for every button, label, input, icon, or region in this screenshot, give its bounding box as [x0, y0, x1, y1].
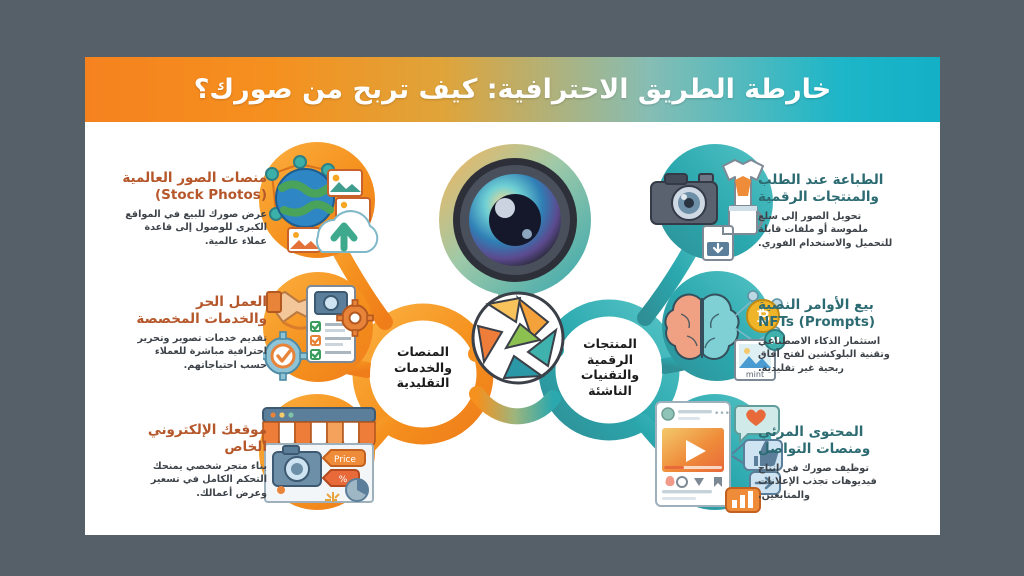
branch-heading: الطباعة عند الطلب والمنتجات الرقمية — [758, 172, 930, 207]
branch-body: توظيف صورك في إنتاج فيديوهات تجذب الإعلا… — [758, 462, 930, 504]
percent-tag-label: % — [339, 475, 348, 485]
camera-aperture-icon — [470, 290, 566, 386]
branch-body: استثمار الذكاء الاصطناعي وتقنية البلوكشي… — [758, 335, 930, 377]
price-tag-label: Price — [334, 455, 356, 465]
branch-body: تقديم خدمات تصوير وتحرير احترافية مباشرة… — [95, 332, 267, 374]
page-title: خارطة الطريق الاحترافية: كيف تربح من صور… — [85, 57, 940, 122]
branch-body: تحويل الصور إلى سلع ملموسة أو ملفات قابل… — [758, 210, 930, 252]
globe-cloud-upload-photos-icon — [260, 140, 380, 260]
handshake-checklist-gear-icon — [263, 270, 383, 382]
svg-text:•••: ••• — [714, 409, 730, 419]
branch-text-freelance: العمل الحر والخدمات المخصصة تقديم خدمات … — [95, 294, 267, 373]
branch-body: بناء متجر شخصي يمنحك التحكم الكامل في تس… — [95, 460, 267, 502]
branch-heading: بيع الأوامر النصية NFTs (Prompts) — [758, 297, 930, 332]
branch-heading: العمل الحر والخدمات المخصصة — [95, 294, 267, 329]
infographic-canvas: خارطة الطريق الاحترافية: كيف تربح من صور… — [0, 0, 1024, 576]
branch-text-visual-content: المحتوى المرئي ومنصات التواصل توظيف صورك… — [758, 424, 930, 503]
branch-text-own-website: موقعك الإلكتروني الخاص بناء متجر شخصي يم… — [95, 422, 267, 501]
branch-body: عرض صورك للبيع في المواقع الكبرى للوصول … — [95, 208, 267, 250]
camera-tshirt-mug-download-icon — [645, 144, 773, 262]
storefront-camera-pricetag-icon: Price % — [257, 394, 383, 512]
branch-text-stock-photos: منصات الصور العالمية (Stock Photos) عرض … — [95, 170, 267, 249]
camera-lens-icon — [435, 142, 595, 302]
branch-heading: المحتوى المرئي ومنصات التواصل — [758, 424, 930, 459]
branch-heading: موقعك الإلكتروني الخاص — [95, 422, 267, 457]
branch-text-prompts-nfts: بيع الأوامر النصية NFTs (Prompts) استثما… — [758, 297, 930, 376]
mindmap-area: المنصات والخدمات التقليدية المنتجات الرق… — [85, 122, 940, 535]
branch-heading: منصات الصور العالمية (Stock Photos) — [95, 170, 267, 205]
branch-text-print-on-demand: الطباعة عند الطلب والمنتجات الرقمية تحوي… — [758, 172, 930, 251]
infographic-card: خارطة الطريق الاحترافية: كيف تربح من صور… — [85, 57, 940, 535]
